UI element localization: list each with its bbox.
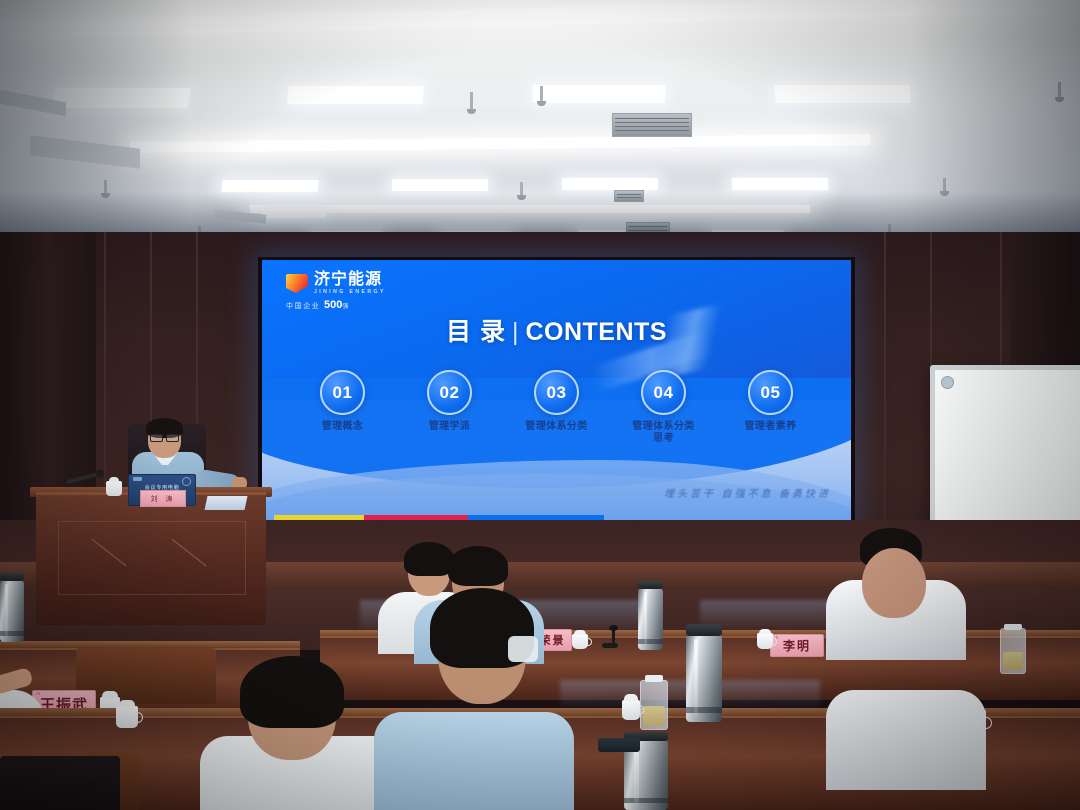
- speaker-glasses-icon: [150, 434, 179, 440]
- attendee-head: [862, 548, 926, 618]
- award-number: 500: [324, 299, 342, 311]
- company-logo: 济宁能源 JINING ENERGY 中国企业 500强: [286, 272, 386, 311]
- chair: [76, 648, 216, 704]
- presentation-slide: 济宁能源 JINING ENERGY 中国企业 500强 目 录|CONTENT…: [262, 260, 851, 522]
- podium-teacup: [106, 481, 122, 496]
- ceiling-light-panel: [562, 178, 658, 190]
- nameplate: JN 李明: [770, 634, 824, 657]
- logo-award-text: 中国企业 500强: [286, 299, 386, 311]
- thermos-flask: [638, 588, 663, 650]
- contents-number-badge: 03: [534, 370, 579, 415]
- contents-number-badge: 01: [320, 370, 365, 415]
- contents-item-label: 管理体系分类思考: [628, 421, 700, 445]
- slide-title-en: CONTENTS: [525, 318, 667, 346]
- conference-room-photo: 济宁能源 JINING ENERGY 中国企业 500强 目 录|CONTENT…: [0, 0, 1080, 810]
- teacup: [622, 700, 640, 720]
- thermos-flask: [686, 634, 722, 722]
- contents-item: 02 管理学派: [414, 370, 486, 445]
- teacup: [116, 706, 138, 728]
- logo-company-name-en: JINING ENERGY: [314, 288, 386, 296]
- slide-title: 目 录|CONTENTS: [262, 312, 851, 348]
- phone: [598, 738, 640, 752]
- attendee-hair: [448, 546, 508, 586]
- teacup: [757, 633, 773, 649]
- slide-title-cn: 目 录: [446, 318, 506, 346]
- ceiling-light-panel: [221, 180, 318, 192]
- chair: [0, 756, 120, 810]
- contents-item-label: 管理体系分类: [521, 421, 593, 433]
- award-suffix: 强: [342, 304, 350, 310]
- whiteboard-knob-icon: [941, 376, 954, 389]
- contents-item-label: 管理学派: [414, 421, 486, 433]
- ceiling-light-panel: [732, 178, 829, 190]
- podium-papers: [205, 496, 248, 510]
- contents-item: 01 管理概念: [307, 370, 379, 445]
- contents-item: 04 管理体系分类思考: [628, 370, 700, 445]
- slide-title-separator: |: [512, 318, 520, 346]
- podium-nameplate-text: 刘 涛: [151, 494, 176, 504]
- desk-microphone-icon: [612, 630, 615, 644]
- contents-number-badge: 05: [748, 370, 793, 415]
- ceiling-light-panel: [287, 86, 424, 104]
- podium-nameplate: 刘 涛: [140, 490, 186, 507]
- contents-number-badge: 02: [427, 370, 472, 415]
- desk-microphone-base: [602, 643, 618, 648]
- led-screen: 济宁能源 JINING ENERGY 中国企业 500强 目 录|CONTENT…: [258, 257, 855, 529]
- slide-contents-list: 01 管理概念 02 管理学派 03 管理体系分类 04 管理体系分类思考 05: [262, 370, 851, 445]
- nameplate-text: 李明: [783, 637, 811, 654]
- award-prefix: 中国企业: [286, 303, 320, 310]
- tea-jar: [1000, 628, 1026, 674]
- contents-item-label: 管理者素养: [735, 421, 807, 433]
- laptop-brand-icon: [133, 477, 142, 481]
- contents-item-label: 管理概念: [307, 421, 379, 433]
- ceiling-light-panel: [533, 85, 665, 103]
- podium-front-panel: [58, 521, 246, 595]
- ceiling: [0, 0, 1080, 262]
- podium: [36, 492, 266, 625]
- teacup: [572, 634, 588, 649]
- attendee-torso: [374, 712, 574, 810]
- sprinkler-icon: [540, 86, 543, 102]
- contents-number-badge: 04: [641, 370, 686, 415]
- slide-watermark-calligraphy: 埋头苦干 自强不息 奋勇快进: [664, 485, 831, 500]
- ceiling-light-panel: [774, 85, 911, 103]
- attendee-torso: [826, 690, 986, 790]
- attendee-hair: [240, 656, 344, 728]
- sprinkler-icon: [470, 92, 473, 110]
- ceiling-light-panel: [392, 179, 489, 191]
- thermos-flask: [0, 580, 24, 642]
- contents-item: 03 管理体系分类: [521, 370, 593, 445]
- ceiling-cove-light-2: [130, 134, 870, 153]
- face-mask: [508, 636, 538, 662]
- contents-item: 05 管理者素养: [735, 370, 807, 445]
- air-vent-icon: [612, 113, 692, 137]
- nameplate-org-mark: JN: [36, 692, 41, 696]
- logo-company-name-cn: 济宁能源: [314, 272, 386, 288]
- tea-jar: [640, 680, 668, 730]
- attendee-hair: [404, 542, 454, 576]
- sail-logo-icon: [286, 274, 308, 293]
